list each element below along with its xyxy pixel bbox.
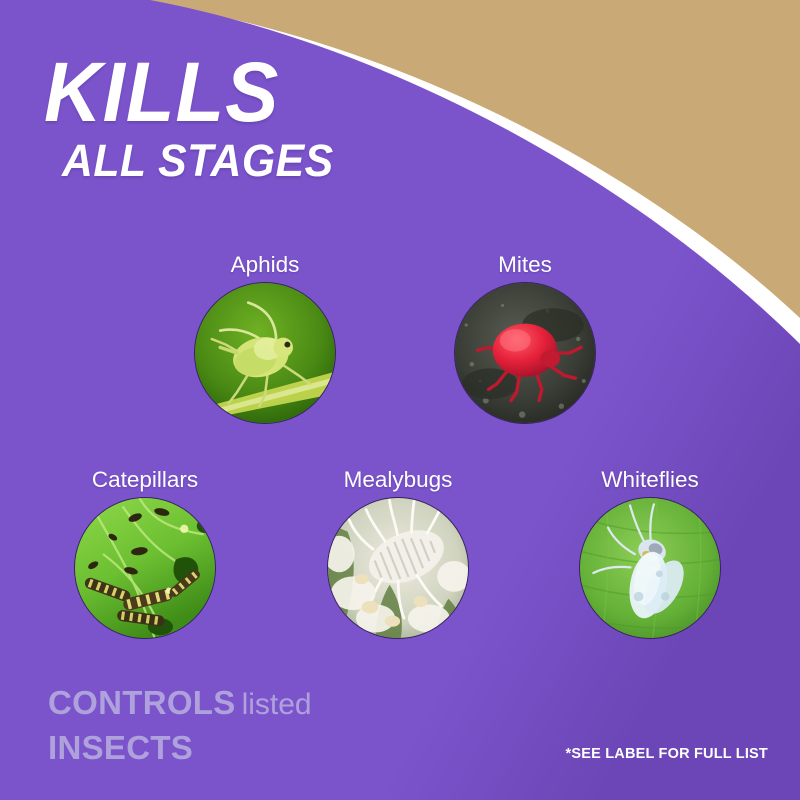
aphid-photo [194,282,336,424]
caterpillar-photo [74,497,216,639]
mite-photo [454,282,596,424]
disclaimer-text: *SEE LABEL FOR FULL LIST [566,746,768,762]
poster-canvas: KILLS ALL STAGES Aphids [0,0,800,800]
insect-card-whiteflies[interactable]: Whiteflies [570,468,730,639]
footer-line-one: CONTROLSlisted [48,686,312,720]
insect-label: Whiteflies [570,468,730,492]
headline-secondary: ALL STAGES [62,138,334,184]
headline-block: KILLS ALL STAGES [44,52,348,184]
insect-label: Mites [445,253,605,277]
mealybug-photo [327,497,469,639]
headline-primary: KILLS [44,52,333,132]
insect-card-aphids[interactable]: Aphids [185,253,345,424]
insect-card-catepillars[interactable]: Catepillars [65,468,225,639]
footer-text-block: CONTROLSlisted INSECTS [48,686,312,764]
footer-listed-word: listed [242,688,312,721]
insect-label: Mealybugs [318,468,478,492]
insect-label: Aphids [185,253,345,277]
footer-controls-word: CONTROLS [48,684,236,721]
whitefly-photo [579,497,721,639]
insect-card-mites[interactable]: Mites [445,253,605,424]
insect-label: Catepillars [65,468,225,492]
footer-insects-word: INSECTS [48,731,312,764]
insect-card-mealybugs[interactable]: Mealybugs [318,468,478,639]
